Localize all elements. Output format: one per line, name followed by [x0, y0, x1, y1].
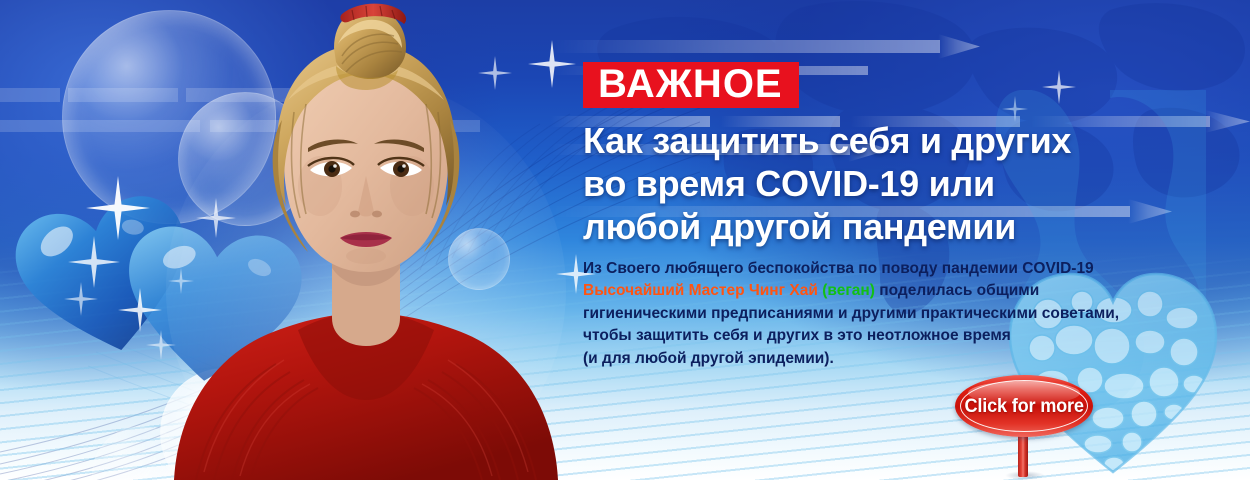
- body-line-2: Высочайший Мастер Чинг Хай (веган) подел…: [583, 280, 1158, 302]
- text-content-area: ВАЖНОЕ Как защитить себя и других во вре…: [583, 0, 1183, 480]
- avatar: [156, 0, 576, 480]
- headline-line-3: любой другой пандемии: [583, 205, 1143, 248]
- body-line-4: чтобы защитить себя и других в это неотл…: [583, 325, 1158, 347]
- cta-sign[interactable]: Click for more: [955, 375, 1093, 437]
- body-line-1: Из Своего любящего беспокойства по повод…: [583, 258, 1158, 280]
- cta-label: Click for more: [964, 395, 1083, 418]
- covid-awareness-banner: ВАЖНОЕ Как защитить себя и других во вре…: [0, 0, 1250, 480]
- headline-line-2: во время COVID-19 или: [583, 162, 1143, 205]
- body-paragraph: Из Своего любящего беспокойства по повод…: [583, 258, 1158, 370]
- vegan-highlight: (веган): [822, 282, 875, 299]
- body-line-5: (и для любой другой эпидемии).: [583, 348, 1158, 370]
- body-line-2-rest: поделилась общими: [879, 282, 1039, 299]
- page-title: Как защитить себя и других во время COVI…: [583, 119, 1143, 248]
- status-badge: ВАЖНОЕ: [583, 62, 799, 108]
- master-name-highlight: Высочайший Мастер Чинг Хай: [583, 282, 818, 299]
- body-line-3: гигиеническими предписаниями и другими п…: [583, 303, 1158, 325]
- click-for-more-button[interactable]: Click for more: [955, 375, 1093, 480]
- headline-line-1: Как защитить себя и других: [583, 119, 1143, 162]
